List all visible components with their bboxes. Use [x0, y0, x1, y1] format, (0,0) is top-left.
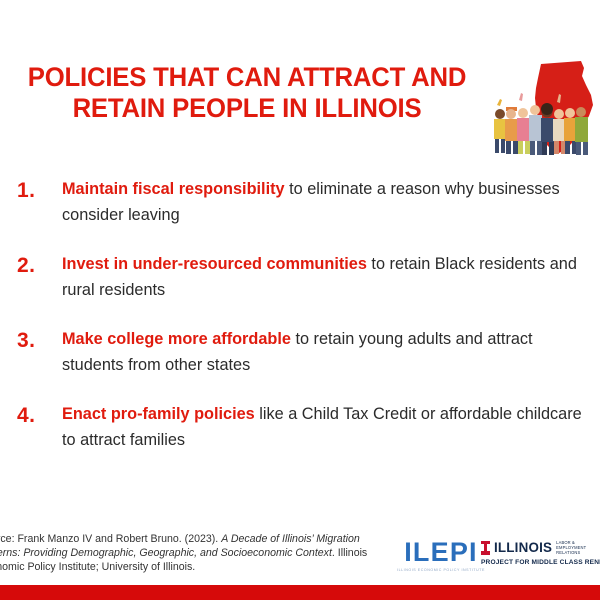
- policy-list: 1. Maintain fiscal responsibility to eli…: [0, 176, 600, 476]
- illinois-ler-logo[interactable]: ILLINOIS LABOR & EMPLOYMENT RELATIONS PR…: [481, 540, 600, 567]
- policy-text: Enact pro-family policies like a Child T…: [62, 401, 586, 453]
- bottom-red-bar: [0, 585, 600, 600]
- illinois-map-with-people-illustration: [483, 58, 600, 158]
- list-item: 4. Enact pro-family policies like a Chil…: [0, 401, 600, 457]
- policy-lead: Maintain fiscal responsibility: [62, 180, 285, 198]
- footer: Source: Frank Manzo IV and Robert Bruno.…: [0, 528, 600, 585]
- block-i-icon: [481, 541, 490, 555]
- policy-number: 2.: [17, 254, 36, 278]
- policy-number: 1.: [17, 179, 36, 203]
- ilepi-wordmark: ILEPI: [395, 538, 487, 566]
- illinois-wordmark: ILLINOIS: [494, 541, 552, 555]
- page-title: POLICIES THAT CAN ATTRACT AND RETAIN PEO…: [8, 62, 486, 124]
- title-line-2: RETAIN PEOPLE IN ILLINOIS: [15, 93, 479, 124]
- policy-lead: Invest in under-resourced communities: [62, 255, 367, 273]
- illinois-department-label: LABOR & EMPLOYMENT RELATIONS: [556, 540, 598, 555]
- illinois-logo-row: ILLINOIS LABOR & EMPLOYMENT RELATIONS: [481, 540, 600, 555]
- policy-lead: Enact pro-family policies: [62, 405, 255, 423]
- source-prefix: Source: Frank Manzo IV and Robert Bruno.…: [0, 533, 221, 545]
- source-citation: Source: Frank Manzo IV and Robert Bruno.…: [0, 532, 383, 575]
- header: POLICIES THAT CAN ATTRACT AND RETAIN PEO…: [0, 58, 600, 158]
- title-line-1: POLICIES THAT CAN ATTRACT AND: [15, 62, 479, 93]
- policy-text: Maintain fiscal responsibility to elimin…: [62, 176, 586, 228]
- policy-number: 3.: [17, 329, 36, 353]
- list-item: 1. Maintain fiscal responsibility to eli…: [0, 176, 600, 232]
- illinois-project-tagline: PROJECT FOR MIDDLE CLASS RENEWAL: [481, 558, 600, 567]
- policy-text: Make college more affordable to retain y…: [62, 326, 586, 378]
- policy-text: Invest in under-resourced communities to…: [62, 251, 586, 303]
- list-item: 2. Invest in under-resourced communities…: [0, 251, 600, 307]
- policy-number: 4.: [17, 404, 36, 428]
- ilepi-logo[interactable]: ILEPI ILLINOIS ECONOMIC POLICY INSTITUTE: [395, 538, 487, 573]
- logo-group: ILEPI ILLINOIS ECONOMIC POLICY INSTITUTE…: [395, 534, 600, 580]
- ilepi-tagline: ILLINOIS ECONOMIC POLICY INSTITUTE: [395, 567, 487, 573]
- policy-lead: Make college more affordable: [62, 330, 291, 348]
- list-item: 3. Make college more affordable to retai…: [0, 326, 600, 382]
